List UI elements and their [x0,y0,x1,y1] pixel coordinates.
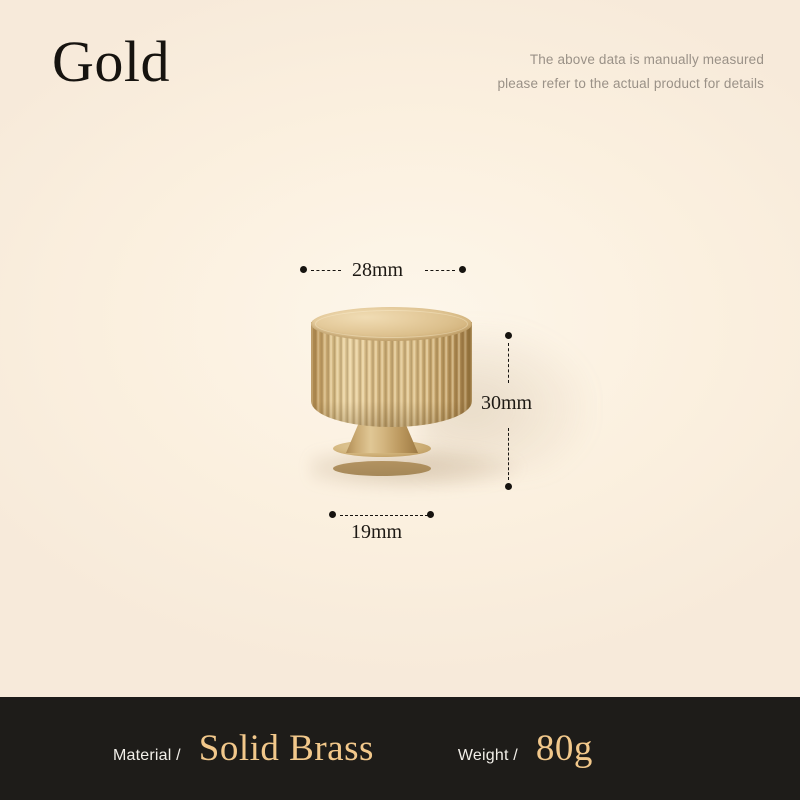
material-spec: Material / Solid Brass [113,730,374,767]
base-dimension-line [340,515,428,516]
height-dimension-label: 30mm [481,392,532,415]
width-dimension-right-dot [459,266,466,273]
weight-value: 80g [536,730,593,767]
height-dimension-bottom-line [508,428,509,480]
base-dimension-right-dot [427,511,434,518]
material-label: Material / [113,747,181,765]
disclaimer-note: The above data is manually measured plea… [497,48,764,95]
spec-footer-bar: Material / Solid Brass Weight / 80g [0,697,800,800]
width-dimension-left-dot [300,266,307,273]
page-title: Gold [52,32,170,93]
base-dimension-label: 19mm [351,521,402,544]
knob-cylinder [311,307,472,427]
base-dimension-left-dot [329,511,336,518]
height-dimension-bottom-dot [505,483,512,490]
product-spec-page: Gold The above data is manually measured… [0,0,800,800]
disclaimer-line-2: please refer to the actual product for d… [497,72,764,96]
height-dimension-top-dot [505,332,512,339]
weight-label: Weight / [458,747,518,765]
disclaimer-line-1: The above data is manually measured [497,48,764,72]
knob-cylinder-shading [311,401,472,427]
material-value: Solid Brass [199,730,374,767]
width-dimension-left-line [311,270,341,271]
width-dimension-label: 28mm [352,259,403,282]
width-dimension-right-line [425,270,455,271]
knob-top-rim [315,310,468,338]
height-dimension-top-line [508,343,509,383]
weight-spec: Weight / 80g [458,730,593,767]
